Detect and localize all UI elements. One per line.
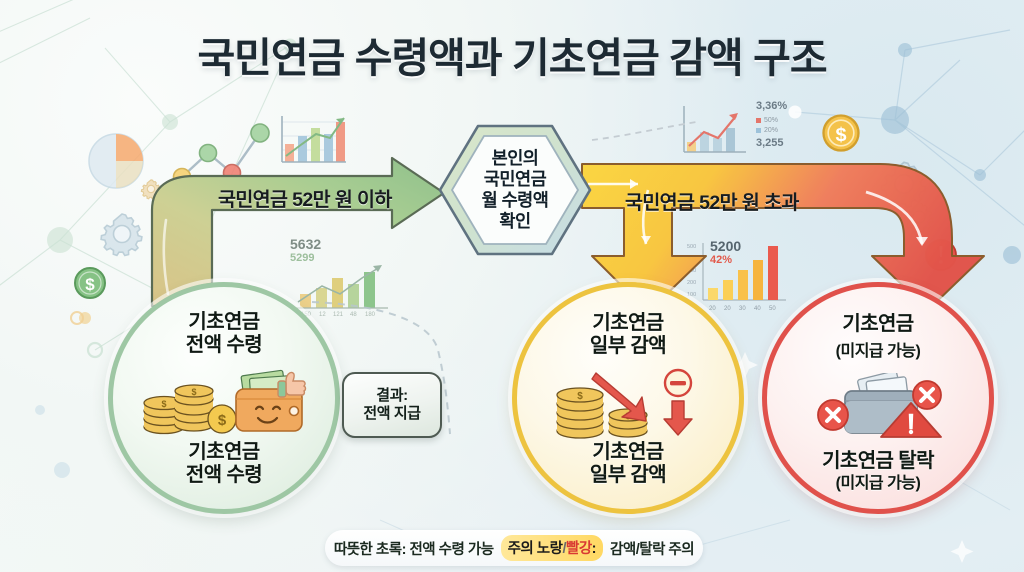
dashed-connector-top (590, 118, 700, 148)
result-chip-line1: 결과: (376, 387, 407, 405)
mini-chart-legend2: 20% (764, 127, 778, 134)
wallet-rejected-illustration (767, 373, 989, 443)
center-node[interactable]: 본인의 국민연금 월 수령액 확인 (434, 122, 596, 258)
center-line-2: 국민연금 (484, 169, 546, 190)
coins-wallet-illustration: $ $ $ (113, 365, 335, 437)
legend-tail-text: 감액/탈락 주의 (610, 538, 694, 559)
outcome-foot: 기초연금 전액 수령 (113, 441, 335, 487)
outcome-circle-full-payment[interactable]: 기초연금 전액 수령 (108, 282, 340, 514)
infographic-canvas: 3,36% 50% 20% 3,255 5632 5299 15012 1214… (0, 0, 1024, 572)
center-line-3: 월 수령액 (482, 190, 549, 211)
arrow-left-branch (96, 148, 456, 308)
mini-chart-pct: 3,36% (756, 100, 787, 112)
outcome-circle-partial-reduction[interactable]: 기초연금 일부 감액 $ $ (512, 282, 744, 514)
svg-text:$: $ (577, 391, 583, 402)
branch-label-left: 국민연금 52만 원 이하 (218, 183, 392, 212)
outcome-foot-line1: 기초연금 (113, 441, 335, 464)
legend-warning-pill: 주의 노랑 / 빨강 : (501, 535, 603, 561)
dollar-coin-icon: $ (820, 112, 862, 154)
center-line-4: 확인 (499, 211, 530, 232)
outcome-head-line1: 기초연금 (842, 313, 913, 336)
coins-decrease-illustration: $ $ (517, 365, 739, 441)
page-title: 국민연금 수령액과 기초연금 감액 구조 (0, 24, 1024, 84)
mini-chart-legend1: 50% (764, 117, 778, 124)
outcome-head-line1: 기초연금 (186, 311, 262, 334)
outcome-foot-line1: 기초연금 (517, 441, 739, 464)
svg-text:$: $ (161, 399, 166, 409)
svg-text:$: $ (85, 275, 95, 294)
outcome-foot: 기초연금 일부 감액 (517, 441, 739, 487)
legend-pill-colon: : (592, 541, 596, 557)
legend-bar: 따뜻한 초록: 전액 수령 가능 주의 노랑 / 빨강 : 감액/탈락 주의 (325, 530, 703, 566)
center-line-1: 본인의 (492, 148, 539, 169)
result-chip-line2: 전액 지급 (363, 405, 420, 423)
outcome-head: 기초연금 전액 수령 (186, 311, 262, 357)
outcome-foot-sub: (미지급 가능) (767, 469, 989, 493)
outcome-foot-line2: 전액 수령 (113, 464, 335, 487)
outcome-head: 기초연금 일부 감액 (590, 312, 666, 358)
legend-pill-red: 빨강 (566, 537, 592, 558)
outcome-head-sub: (미지급 가능) (836, 337, 921, 361)
legend-pill-yellow: 주의 노랑 (508, 537, 563, 558)
mini-chart-value: 3,255 (756, 137, 784, 149)
outcome-foot-line2: 일부 감액 (517, 464, 739, 487)
legend-green-text: 따뜻한 초록: 전액 수령 가능 (334, 538, 494, 559)
outcome-head: 기초연금 (842, 313, 913, 336)
result-chip: 결과: 전액 지급 (342, 372, 442, 438)
branch-label-right: 국민연금 52만 원 초과 (625, 186, 799, 215)
center-node-text: 본인의 국민연금 월 수령액 확인 (434, 122, 596, 258)
outcome-head-line2: 일부 감액 (590, 335, 666, 358)
legend-swatch-blue (756, 128, 761, 133)
svg-text:$: $ (835, 124, 846, 146)
legend-swatch-red (756, 118, 761, 123)
svg-text:$: $ (218, 412, 227, 429)
outcome-head-line2: 전액 수령 (186, 334, 262, 357)
outcome-head-line1: 기초연금 (590, 312, 666, 335)
outcome-circle-disqualified[interactable]: 기초연금 (미지급 가능) (762, 282, 994, 514)
svg-text:$: $ (191, 387, 196, 397)
